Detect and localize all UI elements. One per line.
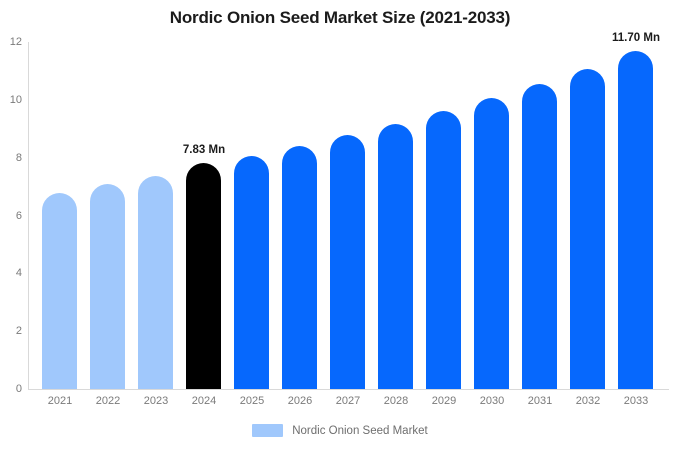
x-axis-tick-label-2032: 2032 bbox=[564, 395, 612, 407]
bar-group: 7.83 Mn bbox=[180, 42, 228, 389]
x-axis-tick-label-2030: 2030 bbox=[468, 395, 516, 407]
bar-group bbox=[228, 42, 276, 389]
bar-group bbox=[372, 42, 420, 389]
x-axis-tick-label-2029: 2029 bbox=[420, 395, 468, 407]
legend-label-nordic-onion-seed-market: Nordic Onion Seed Market bbox=[292, 425, 428, 437]
bar-value-label-2024: 7.83 Mn bbox=[183, 144, 225, 156]
bar-2031[interactable] bbox=[522, 84, 557, 389]
x-axis-tick-label-2024: 2024 bbox=[180, 395, 228, 407]
x-axis-tick-label-2031: 2031 bbox=[516, 395, 564, 407]
bar-group bbox=[324, 42, 372, 389]
y-axis-tick-label: 6 bbox=[0, 210, 22, 222]
y-axis-tick-label: 8 bbox=[0, 152, 22, 164]
x-axis-tick-label-2021: 2021 bbox=[36, 395, 84, 407]
bar-2033[interactable] bbox=[618, 51, 653, 389]
x-axis-tick-label-2023: 2023 bbox=[132, 395, 180, 407]
bar-2021[interactable] bbox=[42, 193, 77, 389]
bar-2022[interactable] bbox=[90, 184, 125, 389]
legend-swatch-nordic-onion-seed-market bbox=[252, 424, 283, 437]
bar-chart: Nordic Onion Seed Market Size (2021-2033… bbox=[0, 0, 680, 450]
bar-2027[interactable] bbox=[330, 135, 365, 389]
bar-group bbox=[132, 42, 180, 389]
y-axis-tick-label: 2 bbox=[0, 325, 22, 337]
bar-2030[interactable] bbox=[474, 98, 509, 389]
y-axis-tick-label: 10 bbox=[0, 94, 22, 106]
y-axis-tick-label: 12 bbox=[0, 36, 22, 48]
chart-title: Nordic Onion Seed Market Size (2021-2033… bbox=[0, 8, 680, 28]
bar-2032[interactable] bbox=[570, 69, 605, 389]
bar-group bbox=[420, 42, 468, 389]
x-axis-tick-label-2033: 2033 bbox=[612, 395, 660, 407]
y-axis-tick-label: 0 bbox=[0, 383, 22, 395]
bar-2025[interactable] bbox=[234, 156, 269, 389]
bar-2024[interactable] bbox=[186, 163, 221, 389]
bar-group: 11.70 Mn bbox=[612, 42, 660, 389]
x-axis-line bbox=[28, 389, 669, 390]
plot-area: 7.83 Mn11.70 Mn bbox=[29, 42, 669, 389]
x-axis-tick-label-2022: 2022 bbox=[84, 395, 132, 407]
x-axis-tick-label-2027: 2027 bbox=[324, 395, 372, 407]
bar-2028[interactable] bbox=[378, 124, 413, 389]
bar-group bbox=[36, 42, 84, 389]
chart-legend: Nordic Onion Seed Market bbox=[0, 424, 680, 437]
bar-group bbox=[468, 42, 516, 389]
bar-group bbox=[564, 42, 612, 389]
bar-group bbox=[84, 42, 132, 389]
x-axis-tick-label-2026: 2026 bbox=[276, 395, 324, 407]
bar-2023[interactable] bbox=[138, 176, 173, 389]
x-axis-tick-label-2028: 2028 bbox=[372, 395, 420, 407]
bar-group bbox=[516, 42, 564, 389]
x-axis-tick-label-2025: 2025 bbox=[228, 395, 276, 407]
bar-group bbox=[276, 42, 324, 389]
y-axis-tick-label: 4 bbox=[0, 267, 22, 279]
bar-2029[interactable] bbox=[426, 111, 461, 389]
bar-2026[interactable] bbox=[282, 146, 317, 389]
bar-value-label-2033: 11.70 Mn bbox=[612, 32, 660, 44]
y-axis-tick-labels: 024681012 bbox=[0, 42, 22, 389]
